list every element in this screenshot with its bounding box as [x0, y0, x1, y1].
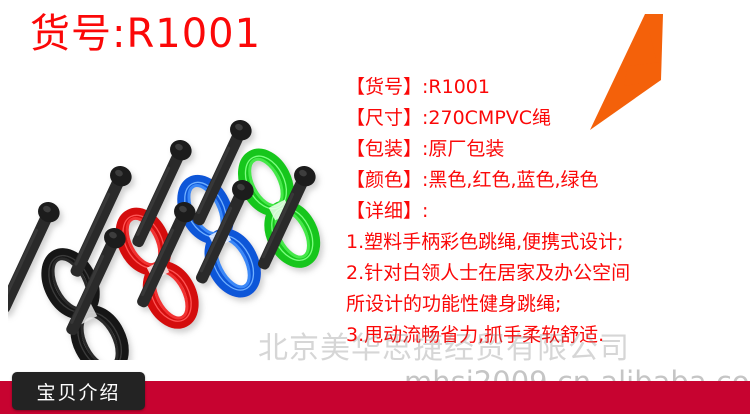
section-tab-product-intro[interactable]: 宝贝介绍 [12, 372, 145, 410]
spec-line-detail-2-cont: 所设计的功能性健身跳绳; [346, 289, 746, 320]
product-detail-image: 货号:R1001 [0, 0, 750, 414]
company-watermark: 北京美华思捷经贸有限公司 [258, 332, 630, 366]
page-title: 货号:R1001 [30, 8, 261, 60]
spec-line-detail-2: 2.针对白领人士在居家及办公空间 [346, 258, 746, 289]
spec-line-item-code: 【货号】:R1001 [346, 72, 746, 103]
section-tab-label: 宝贝介绍 [12, 372, 145, 410]
spec-line-size: 【尺寸】:270CMPVC绳 [346, 103, 746, 134]
spec-list: 【货号】:R1001 【尺寸】:270CMPVC绳 【包装】:原厂包装 【颜色】… [346, 72, 746, 351]
spec-line-packaging: 【包装】:原厂包装 [346, 134, 746, 165]
product-photo [8, 118, 356, 360]
spec-line-detail-1: 1.塑料手柄彩色跳绳,便携式设计; [346, 227, 746, 258]
spec-line-details-heading: 【详细】: [346, 196, 746, 227]
spec-line-colors: 【颜色】:黑色,红色,蓝色,绿色 [346, 165, 746, 196]
